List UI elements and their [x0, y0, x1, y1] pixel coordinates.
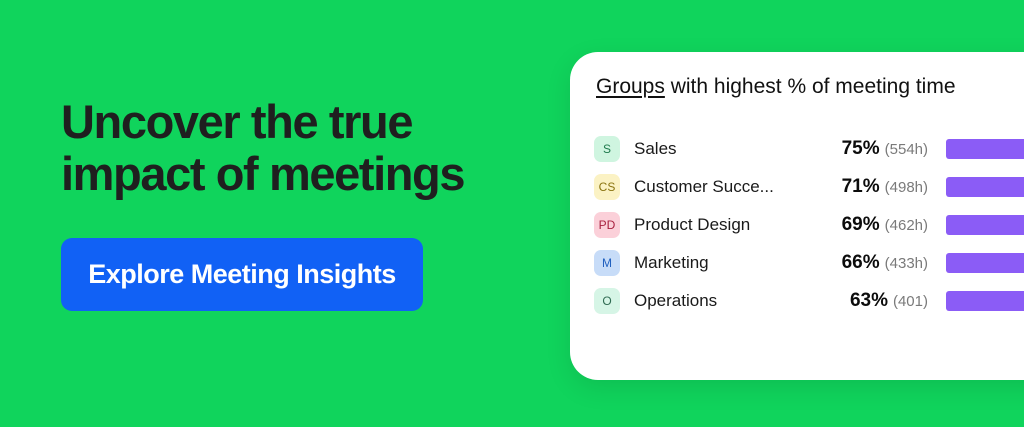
card-title-emphasis: Groups: [596, 75, 665, 98]
progress-bar-track: [946, 253, 1024, 273]
list-item[interactable]: CS Customer Succe... 71%(498h): [594, 168, 1024, 206]
percent-value: 71%: [842, 176, 880, 197]
headline-line-2: impact of meetings: [61, 148, 531, 200]
list-item[interactable]: S Sales 75%(554h): [594, 130, 1024, 168]
list-item[interactable]: O Operations 63%(401): [594, 282, 1024, 320]
progress-bar-fill: [946, 215, 1024, 235]
progress-bar-track: [946, 215, 1024, 235]
insight-card: Groups with highest % of meeting time S …: [570, 52, 1024, 380]
progress-bar-track: [946, 139, 1024, 159]
card-title: Groups with highest % of meeting time: [596, 74, 956, 100]
group-name: Marketing: [634, 253, 820, 273]
list-item[interactable]: M Marketing 66%(433h): [594, 244, 1024, 282]
hours-value: (498h): [885, 179, 928, 196]
percent-value: 66%: [842, 252, 880, 273]
avatar: PD: [594, 212, 620, 238]
progress-bar-fill: [946, 139, 1024, 159]
group-metric: 69%(462h): [820, 214, 928, 236]
avatar: S: [594, 136, 620, 162]
group-name: Customer Succe...: [634, 177, 820, 197]
progress-bar-track: [946, 291, 1024, 311]
hours-value: (401): [893, 293, 928, 310]
progress-bar-fill: [946, 291, 1024, 311]
hours-value: (433h): [885, 255, 928, 272]
group-metric: 71%(498h): [820, 176, 928, 198]
group-name: Sales: [634, 139, 820, 159]
promo-text-block: Uncover the true impact of meetings: [61, 96, 531, 200]
avatar: CS: [594, 174, 620, 200]
page-title: Uncover the true impact of meetings: [61, 96, 531, 200]
group-name: Product Design: [634, 215, 820, 235]
group-list: S Sales 75%(554h) CS Customer Succe... 7…: [594, 130, 1024, 320]
hours-value: (462h): [885, 217, 928, 234]
explore-meeting-insights-button[interactable]: Explore Meeting Insights: [61, 238, 423, 311]
group-metric: 66%(433h): [820, 252, 928, 274]
avatar: O: [594, 288, 620, 314]
progress-bar-fill: [946, 253, 1024, 273]
card-title-rest: with highest % of meeting time: [665, 75, 956, 98]
headline-line-1: Uncover the true: [61, 96, 531, 148]
group-name: Operations: [634, 291, 820, 311]
group-metric: 63%(401): [820, 290, 928, 312]
percent-value: 63%: [850, 290, 888, 311]
group-metric: 75%(554h): [820, 138, 928, 160]
avatar: M: [594, 250, 620, 276]
progress-bar-fill: [946, 177, 1024, 197]
percent-value: 69%: [842, 214, 880, 235]
promo-banner: Uncover the true impact of meetings Expl…: [0, 0, 1024, 427]
list-item[interactable]: PD Product Design 69%(462h): [594, 206, 1024, 244]
progress-bar-track: [946, 177, 1024, 197]
percent-value: 75%: [842, 138, 880, 159]
hours-value: (554h): [885, 141, 928, 158]
